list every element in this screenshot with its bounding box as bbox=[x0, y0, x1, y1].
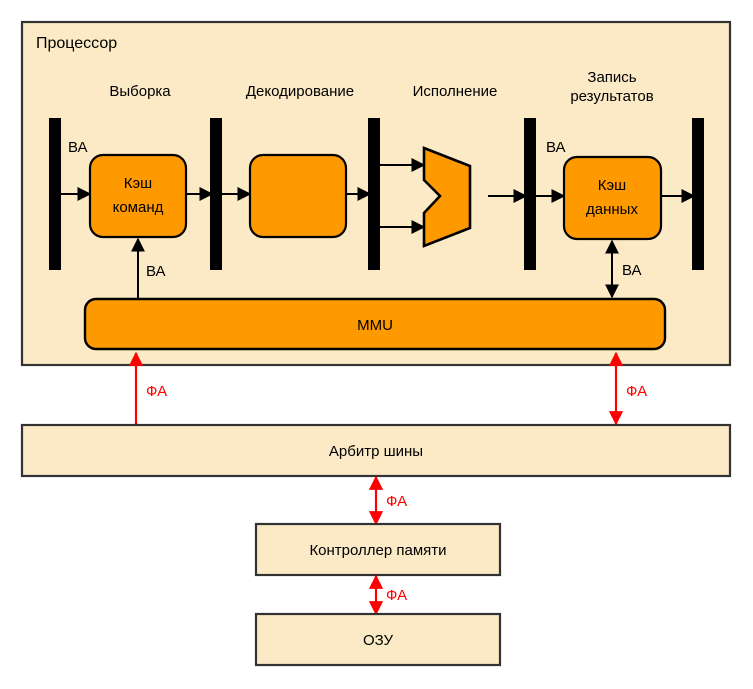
instruction-cache-block[interactable] bbox=[90, 155, 186, 237]
processor-memory-hierarchy-diagram: Процессор Выборка Декодирование Исполнен… bbox=[0, 0, 753, 689]
bus-arbiter-label: Арбитр шины bbox=[329, 443, 423, 460]
diagram-canvas: Процессор Выборка Декодирование Исполнен… bbox=[0, 0, 753, 689]
data-cache-label-line1: Кэш bbox=[598, 177, 626, 194]
instruction-cache-label-line2: команд bbox=[113, 199, 164, 216]
va-label-writeback-input: ВА bbox=[546, 139, 566, 156]
page-title: Процессор bbox=[36, 35, 117, 52]
stage-label-fetch: Выборка bbox=[109, 83, 171, 100]
data-cache-label-line2: данных bbox=[586, 201, 638, 218]
fa-label-mmu-arbiter-left: ФА bbox=[146, 383, 167, 400]
pipeline-register-bar-4 bbox=[692, 118, 704, 270]
instruction-cache-label-line1: Кэш bbox=[124, 175, 152, 192]
ram-label: ОЗУ bbox=[363, 632, 394, 649]
fa-label-arbiter-memctl: ФА bbox=[386, 493, 407, 510]
pipeline-register-bar-0 bbox=[49, 118, 61, 270]
stage-label-writeback-line2: результатов bbox=[570, 88, 653, 105]
memory-controller-label: Контроллер памяти bbox=[309, 542, 446, 559]
mmu-label: MMU bbox=[357, 317, 393, 334]
va-label-fetch-input: ВА bbox=[68, 139, 88, 156]
stage-label-execute: Исполнение bbox=[413, 83, 498, 100]
stage-label-writeback-line1: Запись bbox=[587, 69, 636, 86]
va-label-icache-mmu: ВА bbox=[146, 263, 166, 280]
va-label-dcache-mmu: ВА bbox=[622, 262, 642, 279]
data-cache-block[interactable] bbox=[564, 157, 661, 239]
decode-unit-block[interactable] bbox=[250, 155, 346, 237]
fa-label-memctl-ram: ФА bbox=[386, 587, 407, 604]
fa-label-mmu-arbiter-right: ФА bbox=[626, 383, 647, 400]
stage-label-decode: Декодирование bbox=[246, 83, 354, 100]
pipeline-register-bar-3 bbox=[524, 118, 536, 270]
